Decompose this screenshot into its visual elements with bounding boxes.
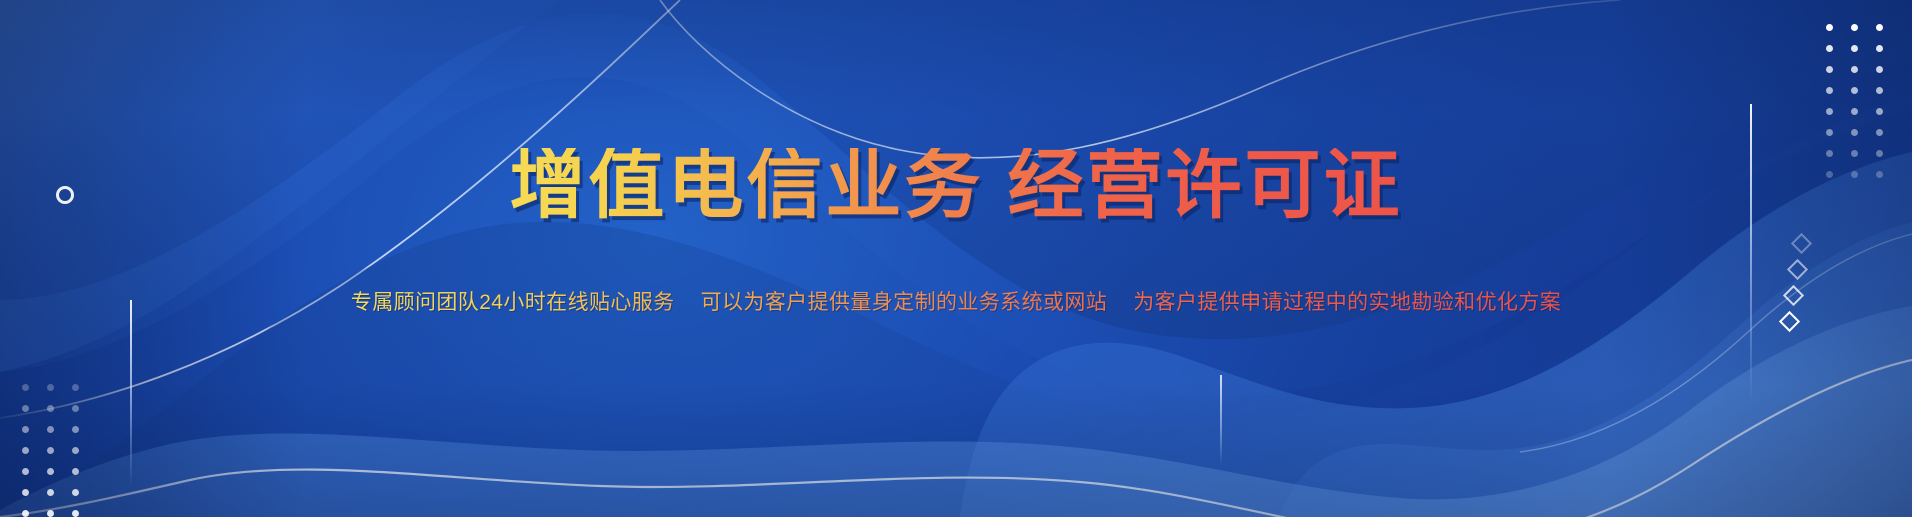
dot-grid-dot — [22, 468, 29, 475]
diamond-outline-icon — [1780, 236, 1809, 251]
dot-grid-row — [22, 447, 79, 454]
vertical-accent-line-center — [1220, 375, 1222, 465]
dot-grid-row — [22, 489, 79, 496]
dot-grid-row — [22, 426, 79, 433]
subtitle-segment-3: 为客户提供申请过程中的实地勘验和优化方案 — [1133, 291, 1561, 314]
dot-grid-row — [22, 405, 79, 412]
dot-grid-dot — [72, 510, 79, 517]
dot-grid-dot — [47, 405, 54, 412]
banner-subtitle-container: 专属顾问团队24小时在线贴心服务可以为客户提供量身定制的业务系统或网站为客户提供… — [0, 290, 1912, 315]
dot-grid-dot — [1826, 108, 1833, 115]
dot-grid-dot — [1851, 24, 1858, 31]
dot-grid-dot — [22, 447, 29, 454]
dot-grid-row — [22, 468, 79, 475]
dot-grid-row — [22, 510, 79, 517]
dot-grid-row — [1826, 108, 1883, 115]
dot-grid-row — [1826, 24, 1883, 31]
diamond-shape — [1787, 259, 1808, 280]
vertical-accent-line-left — [130, 300, 132, 486]
dot-grid-dot — [22, 510, 29, 517]
dot-grid-dot — [1876, 24, 1883, 31]
dot-grid-dot — [1851, 45, 1858, 52]
dot-grid-row — [1826, 129, 1883, 136]
dot-grid-dot — [1876, 66, 1883, 73]
dot-grid-dot — [1876, 108, 1883, 115]
subtitle-segment-1: 专属顾问团队24小时在线贴心服务 — [351, 291, 675, 314]
diamond-shape — [1791, 233, 1812, 254]
dot-grid-dot — [72, 426, 79, 433]
dot-grid-dot — [47, 426, 54, 433]
dot-grid-dot — [22, 384, 29, 391]
subtitle-segment-2: 可以为客户提供量身定制的业务系统或网站 — [701, 291, 1108, 314]
dot-grid-dot — [22, 405, 29, 412]
dot-grid-dot — [72, 405, 79, 412]
diamond-outline-icon — [1780, 314, 1809, 329]
diamond-outline-stack — [1780, 236, 1809, 340]
dot-grid-dot — [1851, 129, 1858, 136]
dot-grid-dot — [1876, 45, 1883, 52]
dot-grid-row — [22, 384, 79, 391]
dot-grid-dot — [22, 426, 29, 433]
dot-grid-dot — [47, 447, 54, 454]
dot-grid-dot — [1826, 45, 1833, 52]
dot-grid-dot — [72, 447, 79, 454]
dot-grid-dot — [1826, 129, 1833, 136]
dot-grid-dot — [1826, 87, 1833, 94]
dot-grid-dot — [72, 468, 79, 475]
dot-grid-row — [1826, 45, 1883, 52]
dot-grid-row — [1826, 87, 1883, 94]
dot-grid-dot — [72, 489, 79, 496]
dot-grid-bottom-left — [22, 384, 79, 517]
dot-grid-dot — [47, 384, 54, 391]
banner-title-container: 增值电信业务 经营许可证 — [0, 148, 1912, 224]
dot-grid-row — [1826, 66, 1883, 73]
dot-grid-dot — [22, 489, 29, 496]
promo-banner: 增值电信业务 经营许可证 专属顾问团队24小时在线贴心服务可以为客户提供量身定制… — [0, 0, 1912, 517]
banner-subtitle: 专属顾问团队24小时在线贴心服务可以为客户提供量身定制的业务系统或网站为客户提供… — [351, 290, 1561, 315]
dot-grid-dot — [1851, 108, 1858, 115]
dot-grid-dot — [1826, 66, 1833, 73]
diamond-outline-icon — [1780, 262, 1809, 277]
dot-grid-dot — [1851, 66, 1858, 73]
background-vignette — [0, 0, 1912, 517]
dot-grid-dot — [1826, 24, 1833, 31]
dot-grid-dot — [1876, 129, 1883, 136]
dot-grid-dot — [47, 510, 54, 517]
dot-grid-dot — [1851, 87, 1858, 94]
dot-grid-dot — [47, 489, 54, 496]
dot-grid-dot — [47, 468, 54, 475]
dot-grid-dot — [1876, 87, 1883, 94]
dot-grid-dot — [72, 384, 79, 391]
banner-title: 增值电信业务 经营许可证 — [509, 148, 1402, 224]
